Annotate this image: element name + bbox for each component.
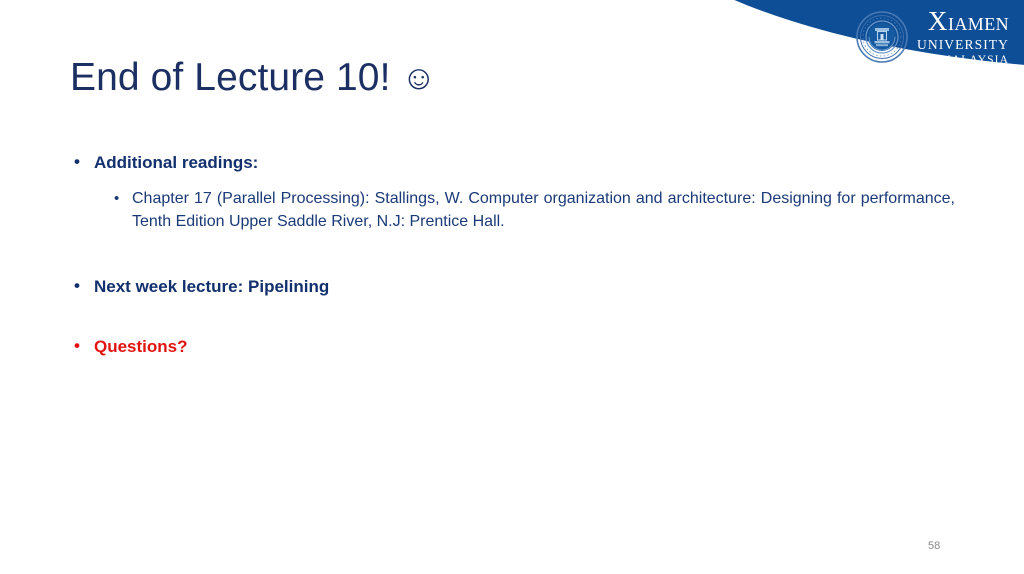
- spacer: [70, 234, 955, 276]
- slide-canvas: XIAMEN UNIVERSITY MALAYSIA End of Lectur…: [0, 0, 1024, 574]
- xiamen-university-seal-icon: [856, 11, 908, 63]
- spacer: [70, 174, 955, 188]
- slide-body: Additional readings: Chapter 17 (Paralle…: [70, 152, 955, 358]
- bullet-reading-reference: Chapter 17 (Parallel Processing): Stalli…: [112, 188, 955, 233]
- bullet-next-week-lecture: Next week lecture: Pipelining: [70, 276, 955, 298]
- slide-title-text: End of Lecture 10!: [70, 56, 391, 99]
- wordmark-xiamen: XIAMEN: [928, 8, 1009, 35]
- page-number: 58: [928, 540, 940, 552]
- spacer: [70, 298, 955, 336]
- bullet-additional-readings: Additional readings:: [70, 152, 955, 174]
- wordmark-malaysia: MALAYSIA: [941, 55, 1009, 67]
- wordmark-university: UNIVERSITY: [917, 38, 1009, 52]
- wordmark-x-initial: X: [928, 8, 948, 35]
- bullet-questions: Questions?: [70, 336, 955, 358]
- smiley-face-icon: ☺: [401, 59, 436, 97]
- university-wordmark: XIAMEN UNIVERSITY MALAYSIA: [917, 8, 1009, 66]
- slide-title: End of Lecture 10! ☺: [70, 56, 436, 100]
- brand-banner: XIAMEN UNIVERSITY MALAYSIA: [584, 0, 1024, 70]
- university-logo-lockup: XIAMEN UNIVERSITY MALAYSIA: [856, 8, 1009, 66]
- wordmark-xiamen-rest: IAMEN: [948, 15, 1009, 33]
